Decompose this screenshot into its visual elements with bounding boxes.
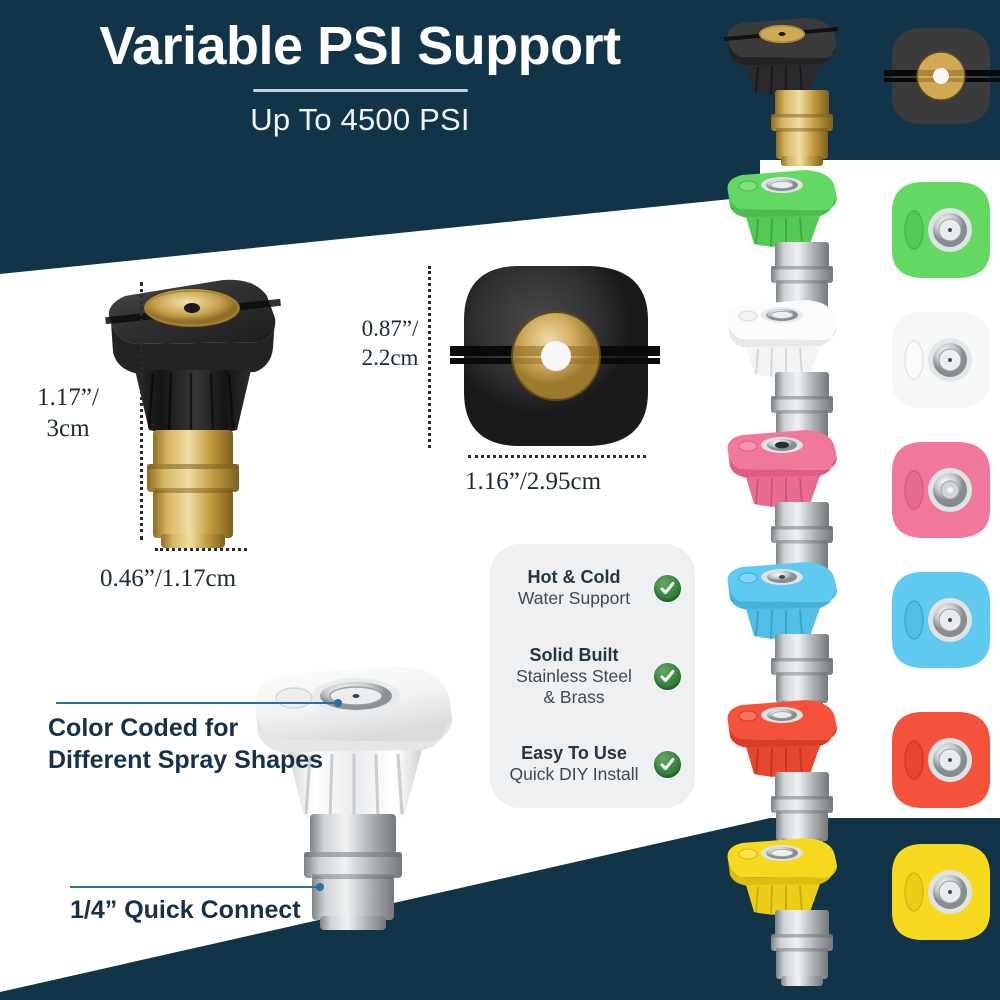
feature-subtitle: Water Support xyxy=(500,588,648,609)
callout-spray-shapes: Color Coded for Different Spray Shapes xyxy=(48,702,348,776)
feature-title: Solid Built xyxy=(500,645,648,666)
feature-subtitle-2: & Brass xyxy=(500,687,648,708)
green-check-icon xyxy=(654,751,681,778)
nozzle-face-green xyxy=(892,182,990,278)
green-check-icon xyxy=(654,575,681,602)
callout-label-line1: Color Coded for xyxy=(48,712,348,744)
nozzle-side-pink xyxy=(728,430,837,578)
feature-title: Hot & Cold xyxy=(500,567,648,588)
title-divider xyxy=(253,89,468,92)
callout-leader-line xyxy=(56,702,338,704)
nozzle-face-white xyxy=(892,312,990,408)
feature-title: Easy To Use xyxy=(500,743,648,764)
nozzle-side-blue xyxy=(728,562,837,710)
dimension-label-top-width: 1.16”/2.95cm xyxy=(465,468,601,496)
dimension-label-side-height: 1.17”/ 3cm xyxy=(8,382,128,445)
nozzle-side-yellow xyxy=(728,838,837,986)
callout-quick-connect: 1/4” Quick Connect xyxy=(70,886,370,925)
dimension-label-side-width: 0.46”/1.17cm xyxy=(100,565,236,593)
nozzle-side-white xyxy=(728,300,837,448)
nozzle-face-blue xyxy=(892,572,990,668)
header: Variable PSI Support Up To 4500 PSI xyxy=(0,0,720,180)
nozzle-side-black xyxy=(724,18,838,166)
callout-leader-line xyxy=(70,886,320,888)
page-title: Variable PSI Support xyxy=(0,18,720,75)
width-dimension-line-mid xyxy=(468,455,646,461)
dimension-label-top-height: 0.87”/ 2.2cm xyxy=(350,315,430,373)
nozzle-face-red xyxy=(892,712,990,808)
feature-row: Solid Built Stainless Steel & Brass xyxy=(490,632,695,720)
black-nozzle-top-view xyxy=(450,262,660,452)
green-check-icon xyxy=(654,663,681,690)
feature-subtitle: Quick DIY Install xyxy=(500,764,648,785)
feature-row: Hot & Cold Water Support xyxy=(490,544,695,632)
infographic-canvas: Variable PSI Support Up To 4500 PSI xyxy=(0,0,1000,1000)
nozzle-face-pink xyxy=(892,442,990,538)
features-card: Hot & Cold Water Support Solid Built Sta… xyxy=(490,544,695,808)
nozzle-color-column xyxy=(716,10,1000,995)
width-dimension-line-left xyxy=(155,548,247,554)
feature-subtitle: Stainless Steel xyxy=(500,666,648,687)
callout-label: 1/4” Quick Connect xyxy=(70,896,370,925)
nozzle-face-black xyxy=(884,28,1000,124)
page-subtitle: Up To 4500 PSI xyxy=(0,102,720,138)
nozzle-side-green xyxy=(728,170,837,318)
callout-leader-dot xyxy=(334,699,342,707)
callout-label-line2: Different Spray Shapes xyxy=(48,744,348,776)
nozzle-side-red xyxy=(728,700,837,848)
feature-row: Easy To Use Quick DIY Install xyxy=(490,720,695,808)
callout-leader-dot xyxy=(316,883,324,891)
nozzle-face-yellow xyxy=(892,844,990,940)
height-dimension-line-left xyxy=(140,282,146,540)
